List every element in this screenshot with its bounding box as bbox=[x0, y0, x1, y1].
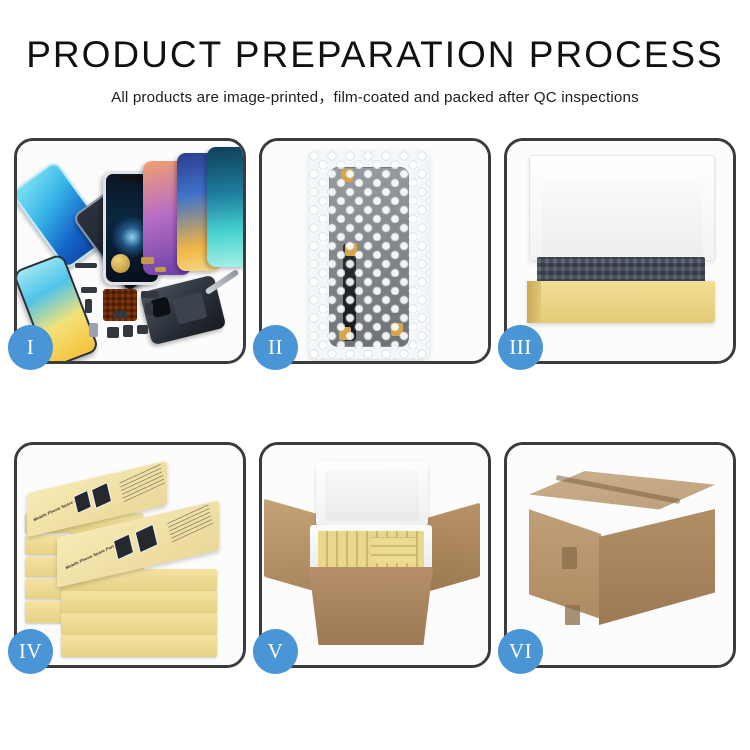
wrapped-phone-screen bbox=[329, 167, 409, 347]
spare-part bbox=[145, 303, 153, 315]
box-thumb-image bbox=[135, 524, 159, 554]
tape-piece bbox=[341, 169, 353, 182]
step-badge-6: VI bbox=[498, 629, 543, 674]
step-panel-3: III bbox=[504, 138, 736, 364]
spare-part bbox=[107, 327, 119, 338]
step-badge-3: III bbox=[498, 325, 543, 370]
step-badge-4: IV bbox=[8, 629, 53, 674]
spare-part bbox=[89, 323, 98, 337]
spare-part bbox=[75, 263, 97, 268]
step-numeral: III bbox=[509, 335, 531, 360]
box-thumb-image bbox=[91, 482, 112, 509]
page-subtitle: All products are image-printed，film-coat… bbox=[0, 85, 750, 107]
step-numeral: I bbox=[27, 335, 35, 360]
step-numeral: V bbox=[268, 639, 284, 664]
sealed-carton bbox=[529, 471, 715, 631]
spare-part bbox=[85, 299, 92, 313]
box-text-lines bbox=[167, 503, 213, 542]
box-stack: Mobile Phone Spare Parts Mobile Phone Sp… bbox=[25, 461, 239, 657]
box-label-text: Mobile Phone Spare Parts bbox=[65, 542, 116, 570]
spare-part bbox=[123, 325, 133, 337]
step-image-4: Mobile Phone Spare Parts Mobile Phone Sp… bbox=[17, 445, 243, 665]
step-image-1 bbox=[17, 141, 243, 361]
step-panel-2: II bbox=[259, 138, 491, 364]
vibration-motor-part bbox=[111, 254, 130, 273]
page-title: PRODUCT PREPARATION PROCESS bbox=[0, 36, 750, 73]
header: PRODUCT PREPARATION PROCESS All products… bbox=[0, 0, 750, 107]
step-image-3 bbox=[507, 141, 733, 361]
step-numeral: IV bbox=[19, 639, 42, 664]
box-thumb-image bbox=[73, 490, 92, 514]
foam-lid bbox=[529, 155, 715, 261]
spare-part bbox=[113, 311, 127, 318]
step-numeral: VI bbox=[509, 639, 532, 664]
carton-tape bbox=[562, 547, 577, 569]
infographic-page: PRODUCT PREPARATION PROCESS All products… bbox=[0, 0, 750, 750]
step-image-2 bbox=[262, 141, 488, 361]
tape-piece bbox=[345, 243, 357, 256]
tape-piece bbox=[391, 323, 403, 336]
process-step-grid: I II bbox=[14, 138, 736, 694]
spare-part bbox=[81, 287, 97, 293]
box-thumb-image bbox=[113, 533, 134, 560]
phone-screen-teal bbox=[207, 147, 243, 267]
carton-tape bbox=[565, 605, 580, 625]
stacked-box bbox=[61, 591, 217, 613]
stacked-box bbox=[61, 635, 217, 657]
carton-body bbox=[302, 567, 440, 645]
step-panel-4: Mobile Phone Spare Parts Mobile Phone Sp… bbox=[14, 442, 246, 668]
carton-right-face bbox=[599, 509, 715, 625]
spare-part bbox=[141, 257, 154, 264]
step-badge-1: I bbox=[8, 325, 53, 370]
step-image-6 bbox=[507, 445, 733, 665]
foam-cooler-lid bbox=[316, 461, 428, 527]
step-panel-1: I bbox=[14, 138, 246, 364]
packed-yellow-boxes bbox=[318, 531, 424, 571]
box-text-lines bbox=[119, 463, 165, 502]
step-numeral: II bbox=[268, 335, 283, 360]
stacked-box bbox=[61, 613, 217, 635]
tape-piece bbox=[339, 327, 351, 340]
step-image-5 bbox=[262, 445, 488, 665]
spare-part bbox=[141, 291, 159, 298]
step-panel-5: V bbox=[259, 442, 491, 668]
yellow-inner-box bbox=[527, 281, 715, 323]
bubble-wrap-bag bbox=[309, 151, 429, 359]
step-badge-5: V bbox=[253, 629, 298, 674]
step-badge-2: II bbox=[253, 325, 298, 370]
flex-cable bbox=[343, 243, 356, 341]
step-panel-6: VI bbox=[504, 442, 736, 668]
spare-part bbox=[155, 267, 166, 272]
spare-part bbox=[137, 325, 148, 334]
